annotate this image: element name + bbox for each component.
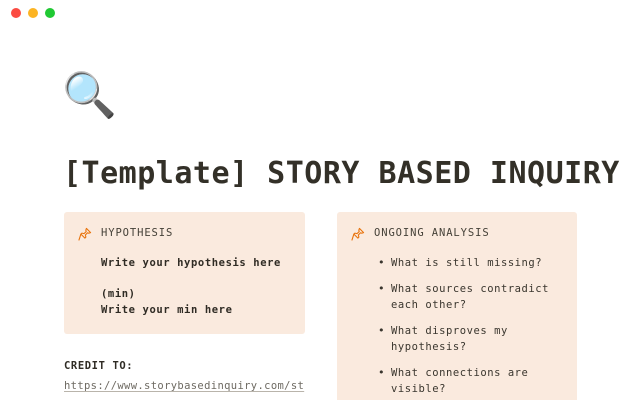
hypothesis-field-2[interactable]: (min) — [101, 286, 291, 302]
callout-label-hypothesis: HYPOTHESIS — [101, 226, 173, 240]
list-item[interactable]: What sources contradict each other? — [391, 281, 563, 313]
minimize-window-button[interactable] — [28, 8, 38, 18]
column-right: ONGOING ANALYSIS What is still missing? … — [337, 212, 577, 400]
hypothesis-field-1[interactable]: Write your hypothesis here — [101, 255, 291, 271]
list-item[interactable]: What connections are visible? — [391, 365, 563, 397]
list-item[interactable]: What disproves my hypothesis? — [391, 323, 563, 355]
callout-ongoing-analysis[interactable]: ONGOING ANALYSIS What is still missing? … — [337, 212, 577, 400]
hypothesis-field-3[interactable]: Write your min here — [101, 302, 291, 318]
callout-header: HYPOTHESIS — [78, 226, 291, 241]
credit-label: CREDIT TO: — [64, 358, 305, 374]
credit-link[interactable]: https://www.storybasedinquiry.com/st — [64, 378, 304, 395]
magnifying-glass-icon[interactable]: 🔍 — [62, 74, 117, 118]
page-title[interactable]: [Template] STORY BASED INQUIRY — [63, 156, 620, 191]
credit-block: CREDIT TO: https://www.storybasedinquiry… — [64, 358, 305, 395]
window-title-bar — [0, 0, 640, 26]
callout-body: Write your hypothesis here (min) Write y… — [78, 255, 291, 318]
pushpin-icon — [78, 227, 92, 241]
callout-hypothesis[interactable]: HYPOTHESIS Write your hypothesis here (m… — [64, 212, 305, 334]
callout-label-ongoing-analysis: ONGOING ANALYSIS — [374, 226, 490, 240]
maximize-window-button[interactable] — [45, 8, 55, 18]
callout-header: ONGOING ANALYSIS — [351, 226, 563, 241]
callout-body: What is still missing? What sources cont… — [351, 255, 563, 397]
columns-container: HYPOTHESIS Write your hypothesis here (m… — [64, 212, 577, 400]
list-item[interactable]: What is still missing? — [391, 255, 563, 271]
analysis-question-list: What is still missing? What sources cont… — [374, 255, 563, 397]
spacer — [101, 271, 291, 286]
close-window-button[interactable] — [11, 8, 21, 18]
column-left: HYPOTHESIS Write your hypothesis here (m… — [64, 212, 305, 395]
pushpin-icon — [351, 227, 365, 241]
document-page: 🔍 [Template] STORY BASED INQUIRY HYPOTHE… — [0, 26, 640, 400]
